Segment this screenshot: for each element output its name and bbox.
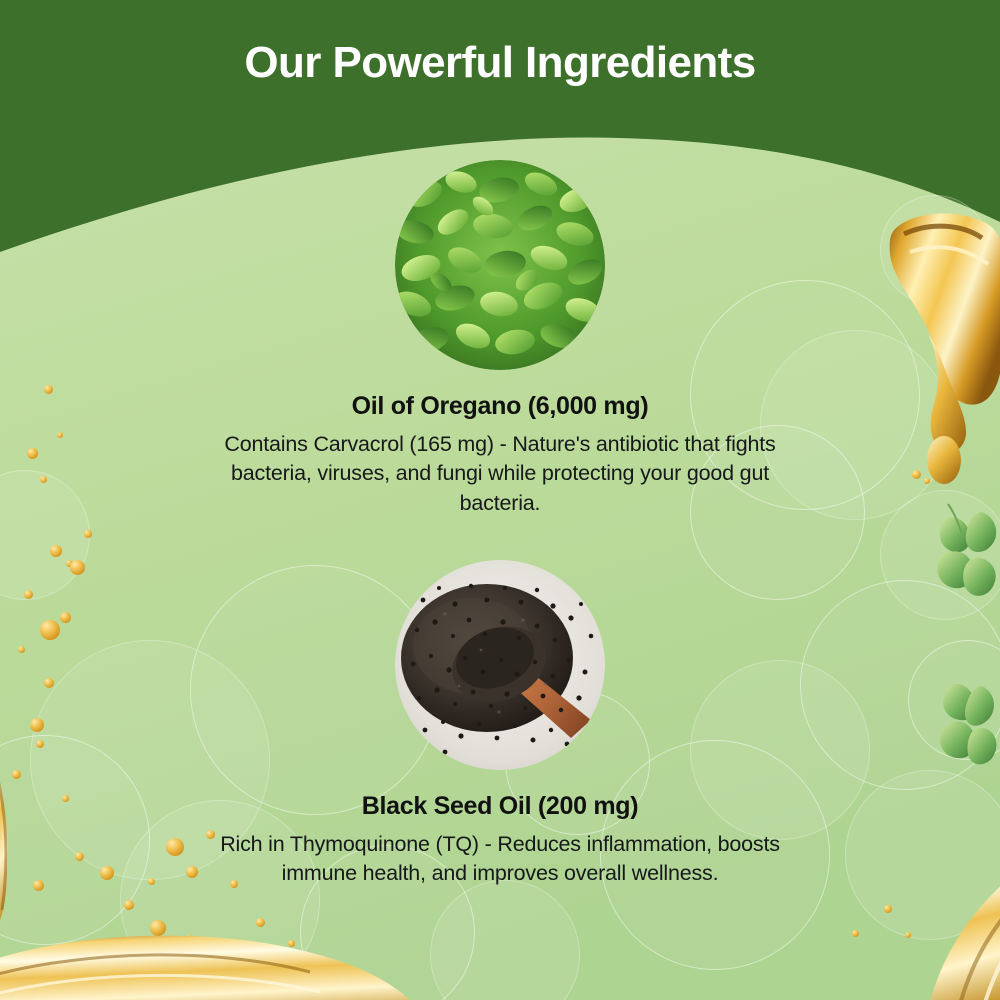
ingredient-card-black-seed-oil: Black Seed Oil (200 mg) Rich in Thymoqui… <box>0 560 1000 889</box>
ingredient-description: Rich in Thymoquinone (TQ) - Reduces infl… <box>190 830 810 889</box>
ingredient-description: Contains Carvacrol (165 mg) - Nature's a… <box>190 430 810 518</box>
golden-oil-wave-icon <box>0 920 410 1000</box>
ingredient-name: Black Seed Oil (200 mg) <box>0 792 1000 821</box>
ingredient-card-oil-of-oregano: Oil of Oregano (6,000 mg) Contains Carva… <box>0 160 1000 518</box>
ingredients-infographic: Our Powerful Ingredients <box>0 0 1000 1000</box>
page-title: Our Powerful Ingredients <box>0 38 1000 88</box>
oregano-plant-photo <box>395 160 605 370</box>
black-seed-with-wooden-spoon-photo <box>395 560 605 770</box>
ingredient-name: Oil of Oregano (6,000 mg) <box>0 392 1000 421</box>
